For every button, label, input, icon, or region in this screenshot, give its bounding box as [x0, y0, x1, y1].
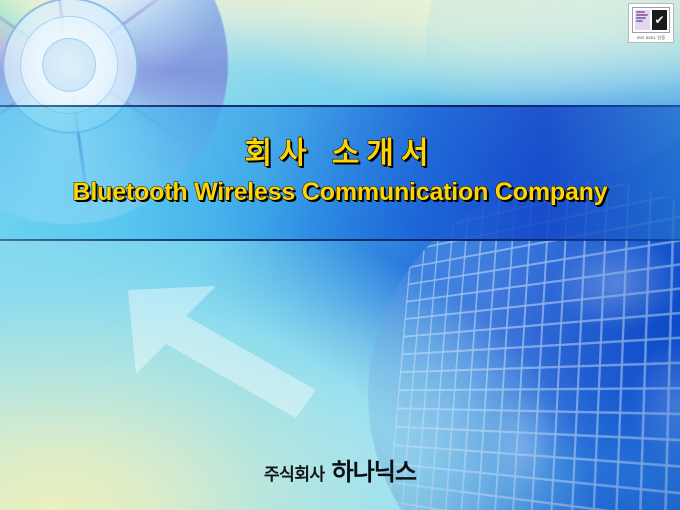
certification-badge: ✔ ISO 9001 인증	[628, 3, 674, 43]
arrow-graphic	[120, 282, 350, 432]
check-mark-panel: ✔	[652, 10, 667, 30]
banner-bottom-rule	[0, 239, 680, 241]
footer-company-name: 하나닉스	[332, 459, 416, 486]
certificate-text-line	[636, 11, 645, 13]
check-icon: ✔	[654, 14, 664, 26]
certification-badge-caption: ISO 9001 인증	[632, 35, 670, 41]
page-title-word-1: 회사	[244, 137, 313, 170]
certificate-text-line	[636, 14, 648, 16]
presentation-slide: 회사소개서 Bluetooth Wireless Communication C…	[0, 0, 680, 510]
page-title-word-2: 소개서	[332, 137, 436, 170]
page-subtitle: Bluetooth Wireless Communication Company	[0, 178, 680, 207]
certificate-text-line	[636, 20, 643, 22]
page-title: 회사소개서	[0, 128, 680, 172]
certificate-document-icon	[635, 10, 650, 30]
footer-corporate-form: 주식회사	[264, 465, 325, 484]
title-block: 회사소개서 Bluetooth Wireless Communication C…	[0, 128, 680, 207]
footer-company-block: 주식회사하나닉스	[0, 452, 680, 487]
banner-top-rule	[0, 105, 680, 107]
certification-badge-artwork: ✔	[632, 7, 670, 33]
certificate-text-line	[636, 17, 646, 19]
